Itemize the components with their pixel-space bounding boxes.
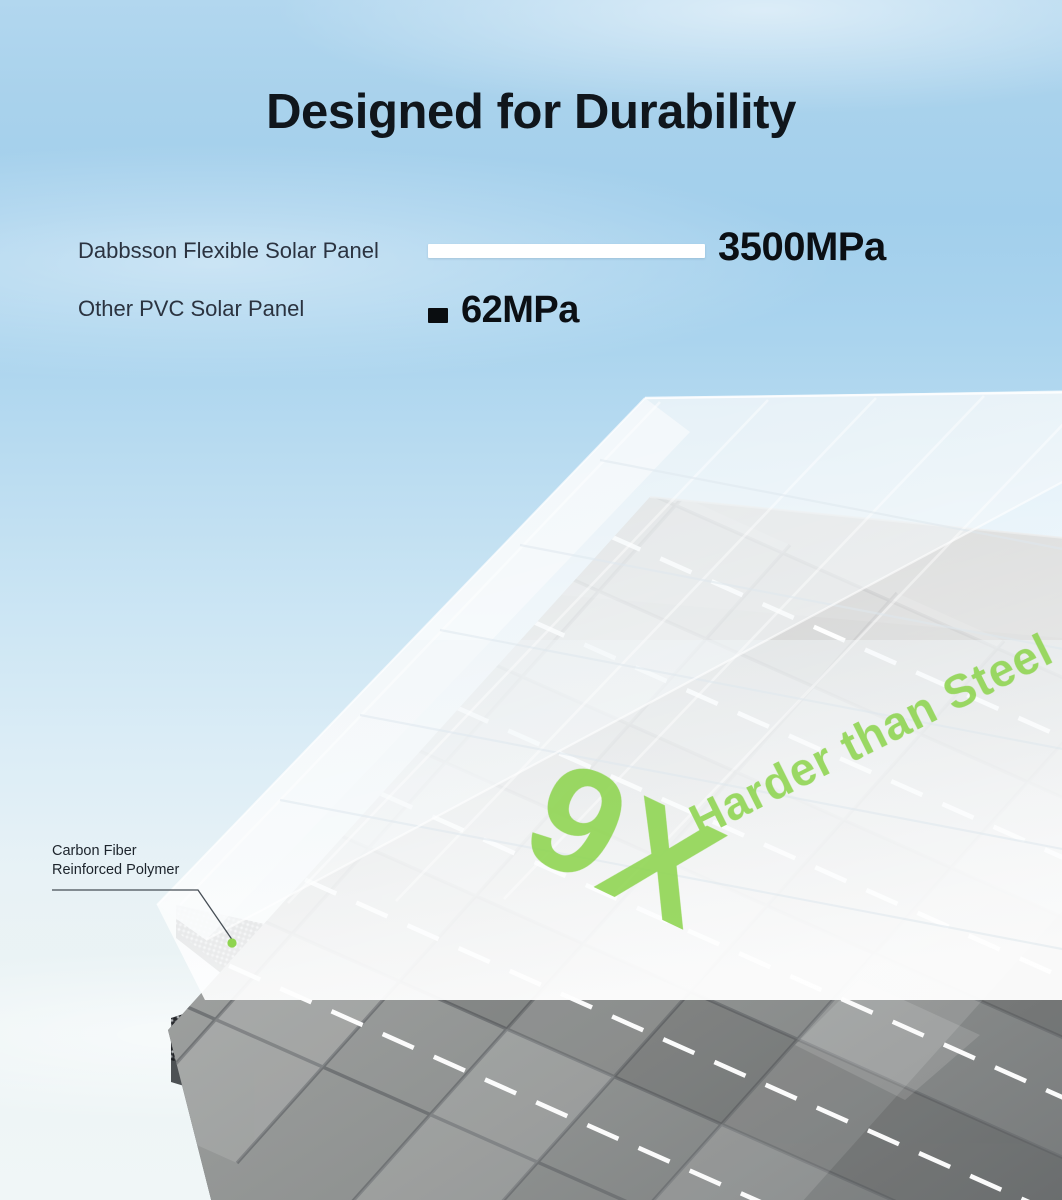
callout-line-2: Reinforced Polymer xyxy=(52,861,179,880)
page-title: Designed for Durability xyxy=(0,84,1062,140)
bar-pvc xyxy=(428,308,448,323)
bar-dabbsson xyxy=(428,244,705,258)
promo-graphic: 9X Harder than Steel Designed for Durabi… xyxy=(0,0,1062,1200)
bar-label-dabbsson: Dabbsson Flexible Solar Panel xyxy=(78,236,379,266)
chart-row-dabbsson: Dabbsson Flexible Solar Panel 3500MPa xyxy=(0,236,1062,294)
callout-line-1: Carbon Fiber xyxy=(52,842,179,861)
bar-value-pvc: 62MPa xyxy=(461,291,579,329)
bar-label-pvc: Other PVC Solar Panel xyxy=(78,294,304,324)
bar-value-dabbsson: 3500MPa xyxy=(718,227,886,267)
carbon-fiber-callout: Carbon Fiber Reinforced Polymer xyxy=(52,842,179,880)
solar-panel-illustration: 9X Harder than Steel xyxy=(0,0,1062,1200)
chart-row-pvc: Other PVC Solar Panel 62MPa xyxy=(0,294,1062,352)
strength-comparison-chart: Dabbsson Flexible Solar Panel 3500MPa Ot… xyxy=(0,236,1062,352)
